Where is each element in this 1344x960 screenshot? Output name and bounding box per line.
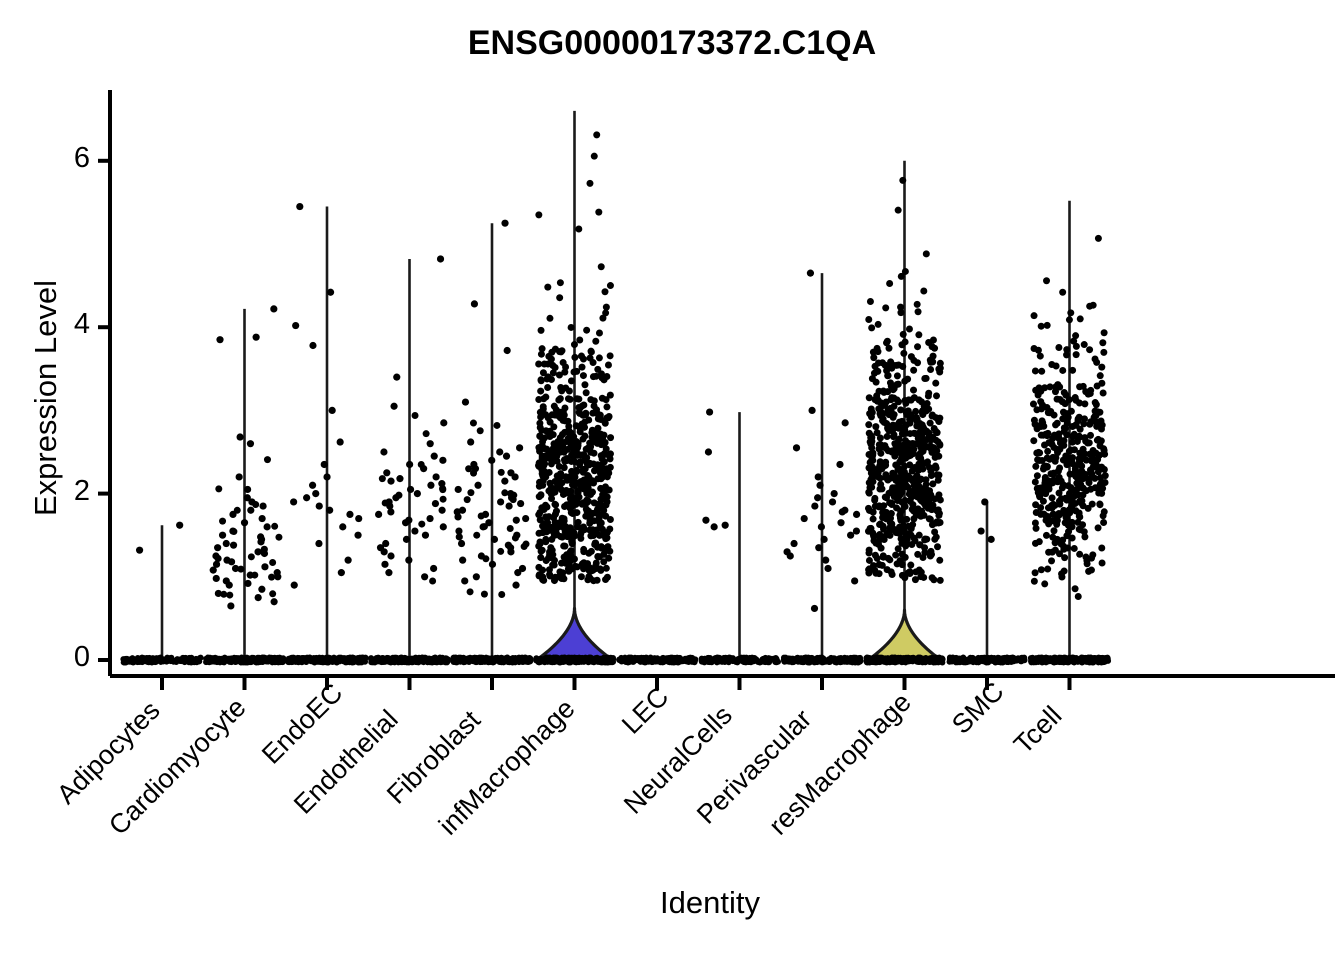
data-point <box>904 376 911 383</box>
data-point <box>1098 380 1105 387</box>
data-point <box>501 478 508 485</box>
zero-point <box>923 656 929 662</box>
zero-point <box>595 659 601 665</box>
data-point <box>544 384 551 391</box>
data-point <box>837 519 844 526</box>
data-point <box>904 449 911 456</box>
data-point <box>927 444 934 451</box>
zero-point <box>1029 657 1035 663</box>
data-point <box>568 324 575 331</box>
zero-point <box>522 656 528 662</box>
data-point <box>316 502 323 509</box>
data-point <box>592 338 599 345</box>
data-point <box>1059 367 1066 374</box>
data-point <box>219 518 226 525</box>
data-point <box>884 433 891 440</box>
data-point <box>875 321 882 328</box>
zero-point <box>935 658 941 664</box>
data-point <box>1044 432 1051 439</box>
data-point <box>553 508 560 515</box>
data-point <box>824 565 831 572</box>
data-point <box>437 255 444 262</box>
data-point <box>883 515 890 522</box>
data-point <box>894 372 901 379</box>
data-point <box>873 379 880 386</box>
data-point <box>546 571 553 578</box>
zero-point <box>221 659 227 665</box>
data-point <box>514 569 521 576</box>
data-point <box>573 438 580 445</box>
data-point <box>1102 472 1109 479</box>
data-point <box>477 427 484 434</box>
data-point <box>552 519 559 526</box>
data-point <box>264 456 271 463</box>
data-point <box>883 367 890 374</box>
zero-point <box>735 656 741 662</box>
data-point <box>883 445 890 452</box>
data-point <box>544 284 551 291</box>
zero-point <box>975 659 981 665</box>
data-point <box>576 410 583 417</box>
data-point <box>593 435 600 442</box>
data-point <box>471 300 478 307</box>
data-point <box>892 552 899 559</box>
data-point <box>598 263 605 270</box>
data-point <box>872 363 879 370</box>
data-point <box>1044 448 1051 455</box>
data-point <box>585 417 592 424</box>
data-point <box>512 582 519 589</box>
data-point <box>414 490 421 497</box>
data-point <box>929 480 936 487</box>
data-point <box>546 469 553 476</box>
data-point <box>381 548 388 555</box>
zero-point <box>426 657 432 663</box>
data-point <box>561 464 568 471</box>
data-point <box>923 250 930 257</box>
data-point <box>907 497 914 504</box>
data-point <box>596 330 603 337</box>
data-point <box>1098 437 1105 444</box>
data-point <box>907 562 914 569</box>
data-point <box>912 568 919 575</box>
data-point <box>422 532 429 539</box>
zero-point <box>213 657 219 663</box>
data-point <box>1067 309 1074 316</box>
data-point <box>602 513 609 520</box>
data-point <box>919 466 926 473</box>
data-point <box>879 359 886 366</box>
data-point <box>327 289 334 296</box>
data-point <box>543 520 550 527</box>
zero-point <box>761 656 767 662</box>
data-point <box>290 498 297 505</box>
data-point <box>877 475 884 482</box>
data-point <box>1081 341 1088 348</box>
data-point <box>1088 567 1095 574</box>
data-point <box>927 420 934 427</box>
data-point <box>900 424 907 431</box>
zero-point <box>620 656 626 662</box>
data-point <box>538 466 545 473</box>
data-point <box>1032 367 1039 374</box>
data-point <box>885 427 892 434</box>
data-point <box>922 536 929 543</box>
data-point <box>910 367 917 374</box>
data-point <box>926 496 933 503</box>
data-point <box>383 469 390 476</box>
data-point <box>271 523 278 530</box>
data-point <box>392 494 399 501</box>
data-point <box>933 464 940 471</box>
data-point <box>866 507 873 514</box>
data-point <box>909 521 916 528</box>
data-point <box>887 475 894 482</box>
data-point <box>337 438 344 445</box>
data-point <box>711 523 718 530</box>
data-point <box>571 354 578 361</box>
data-point <box>917 541 924 548</box>
data-point <box>338 569 345 576</box>
data-point <box>603 534 610 541</box>
data-point <box>577 531 584 538</box>
data-point <box>274 573 281 580</box>
data-point <box>539 345 546 352</box>
data-point <box>418 461 425 468</box>
zero-point <box>180 655 186 661</box>
data-point <box>1099 339 1106 346</box>
zero-point <box>510 656 516 662</box>
data-point <box>339 523 346 530</box>
zero-point <box>355 657 361 663</box>
data-point <box>576 336 583 343</box>
zero-point <box>688 658 694 664</box>
zero-point <box>806 659 812 665</box>
data-point <box>1086 439 1093 446</box>
data-point <box>1076 551 1083 558</box>
data-point <box>902 338 909 345</box>
data-point <box>226 592 233 599</box>
zero-point <box>490 655 496 661</box>
data-point <box>1040 498 1047 505</box>
data-point <box>866 490 873 497</box>
data-point <box>269 559 276 566</box>
zero-point <box>722 657 728 663</box>
data-point <box>1087 432 1094 439</box>
data-point <box>898 489 905 496</box>
data-point <box>787 552 794 559</box>
data-point <box>1095 235 1102 242</box>
zero-point <box>433 658 439 664</box>
data-point <box>603 465 610 472</box>
data-point <box>577 428 584 435</box>
data-point <box>507 548 514 555</box>
zero-point <box>782 656 788 662</box>
data-point <box>254 548 261 555</box>
zero-point <box>535 659 541 665</box>
zero-point <box>699 659 705 665</box>
data-point <box>591 499 598 506</box>
data-point <box>574 452 581 459</box>
data-point <box>706 408 713 415</box>
data-point <box>1038 323 1045 330</box>
data-point <box>323 473 330 480</box>
data-point <box>275 534 282 541</box>
zero-point <box>229 658 235 664</box>
data-point <box>920 554 927 561</box>
data-point <box>382 499 389 506</box>
data-point <box>512 534 519 541</box>
data-point <box>1050 444 1057 451</box>
data-point <box>936 557 943 564</box>
data-point <box>558 575 565 582</box>
data-point <box>894 560 901 567</box>
data-point <box>210 567 217 574</box>
data-point <box>258 586 265 593</box>
data-point <box>874 348 881 355</box>
zero-point <box>1035 657 1041 663</box>
data-point <box>539 443 546 450</box>
data-point <box>877 435 884 442</box>
data-point <box>567 557 574 564</box>
data-point <box>535 530 542 537</box>
data-point <box>252 501 259 508</box>
data-point <box>387 478 394 485</box>
data-point <box>418 521 425 528</box>
data-point <box>535 543 542 550</box>
data-point <box>867 434 874 441</box>
data-point <box>595 209 602 216</box>
data-point <box>1088 469 1095 476</box>
data-point <box>1035 422 1042 429</box>
data-point <box>538 327 545 334</box>
data-point <box>315 540 322 547</box>
data-point <box>564 533 571 540</box>
data-point <box>592 539 599 546</box>
data-point <box>507 525 514 532</box>
data-point <box>807 270 814 277</box>
data-point <box>421 573 428 580</box>
data-point <box>215 485 222 492</box>
zero-point <box>571 655 577 661</box>
zero-point <box>885 657 891 663</box>
data-point <box>489 561 496 568</box>
data-point <box>896 512 903 519</box>
data-point <box>879 485 886 492</box>
violin-body-infMacrophage <box>537 608 613 660</box>
data-point <box>588 348 595 355</box>
zero-point <box>142 657 148 663</box>
data-point <box>906 461 913 468</box>
data-point <box>1059 289 1066 296</box>
data-point <box>539 576 546 583</box>
data-point <box>919 407 926 414</box>
zero-point <box>321 659 327 665</box>
data-point <box>548 376 555 383</box>
data-point <box>496 448 503 455</box>
data-point <box>1097 372 1104 379</box>
data-point <box>432 473 439 480</box>
data-point <box>893 362 900 369</box>
data-point <box>853 511 860 518</box>
zero-point <box>304 655 310 661</box>
data-point <box>822 557 829 564</box>
data-point <box>270 305 277 312</box>
data-point <box>228 558 235 565</box>
data-point <box>909 488 916 495</box>
data-point <box>591 467 598 474</box>
data-point <box>1085 476 1092 483</box>
data-point <box>565 565 572 572</box>
data-point <box>605 361 612 368</box>
data-point <box>876 521 883 528</box>
zero-point <box>153 659 159 665</box>
data-point <box>900 350 907 357</box>
data-point <box>912 408 919 415</box>
data-point <box>237 566 244 573</box>
zero-point <box>254 656 260 662</box>
data-point <box>871 495 878 502</box>
data-point <box>535 511 542 518</box>
data-point <box>607 455 614 462</box>
data-point <box>1038 368 1045 375</box>
zero-point <box>606 658 612 664</box>
zero-point <box>472 657 478 663</box>
data-point <box>268 574 275 581</box>
zero-point <box>204 656 210 662</box>
data-point <box>583 327 590 334</box>
zero-point <box>556 659 562 665</box>
data-point <box>594 461 601 468</box>
points-layer <box>120 131 1111 665</box>
data-point <box>440 496 447 503</box>
data-point <box>544 453 551 460</box>
data-point <box>255 594 262 601</box>
data-point <box>883 509 890 516</box>
data-point <box>561 449 568 456</box>
data-point <box>1040 511 1047 518</box>
data-point <box>470 420 477 427</box>
data-point <box>387 508 394 515</box>
data-point <box>1050 527 1057 534</box>
data-point <box>603 304 610 311</box>
data-point <box>872 423 879 430</box>
data-point <box>920 448 927 455</box>
data-point <box>506 502 513 509</box>
data-point <box>562 417 569 424</box>
data-point <box>543 528 550 535</box>
zero-point <box>584 656 590 662</box>
data-point <box>380 448 387 455</box>
zero-point <box>918 656 924 662</box>
data-point <box>1069 367 1076 374</box>
data-point <box>588 429 595 436</box>
data-point <box>896 436 903 443</box>
data-point <box>606 525 613 532</box>
data-point <box>244 486 251 493</box>
data-point <box>517 500 524 507</box>
zero-point <box>1014 656 1020 662</box>
data-point <box>552 457 559 464</box>
data-point <box>549 562 556 569</box>
data-point <box>491 536 498 543</box>
data-point <box>902 482 909 489</box>
data-point <box>901 574 908 581</box>
data-point <box>230 542 237 549</box>
zero-point <box>900 658 906 664</box>
data-point <box>602 288 609 295</box>
data-point <box>808 407 815 414</box>
data-point <box>933 507 940 514</box>
data-point <box>455 486 462 493</box>
data-point <box>932 428 939 435</box>
zero-point <box>966 657 972 663</box>
data-point <box>868 324 875 331</box>
data-point <box>569 540 576 547</box>
data-point <box>381 561 388 568</box>
data-point <box>355 515 362 522</box>
data-point <box>411 527 418 534</box>
data-point <box>292 322 299 329</box>
data-point <box>928 551 935 558</box>
data-point <box>876 503 883 510</box>
data-point <box>473 532 480 539</box>
data-point <box>571 341 578 348</box>
data-point <box>458 540 465 547</box>
data-point <box>914 505 921 512</box>
data-point <box>523 541 530 548</box>
data-point <box>550 440 557 447</box>
data-point <box>901 473 908 480</box>
data-point <box>1089 501 1096 508</box>
data-point <box>1031 312 1038 319</box>
data-point <box>586 520 593 527</box>
zero-point <box>478 658 484 664</box>
data-point <box>584 560 591 567</box>
zero-point <box>998 656 1004 662</box>
data-point <box>899 177 906 184</box>
data-point <box>880 554 887 561</box>
data-point <box>801 515 808 522</box>
data-point <box>561 543 568 550</box>
data-point <box>905 396 912 403</box>
data-point <box>560 359 567 366</box>
data-point <box>241 519 248 526</box>
data-point <box>902 554 909 561</box>
data-point <box>869 530 876 537</box>
data-point <box>1066 316 1073 323</box>
data-point <box>853 527 860 534</box>
data-point <box>900 331 907 338</box>
data-point <box>906 326 913 333</box>
data-point <box>1066 448 1073 455</box>
data-point <box>548 356 555 363</box>
data-point <box>937 577 944 584</box>
data-point <box>537 413 544 420</box>
data-point <box>872 396 879 403</box>
data-point <box>584 498 591 505</box>
zero-point <box>637 657 643 663</box>
data-point <box>929 434 936 441</box>
data-point <box>598 441 605 448</box>
data-point <box>497 498 504 505</box>
zero-point <box>1079 656 1085 662</box>
data-point <box>870 354 877 361</box>
data-point <box>586 180 593 187</box>
data-point <box>136 547 143 554</box>
data-point <box>1033 406 1040 413</box>
data-point <box>579 402 586 409</box>
